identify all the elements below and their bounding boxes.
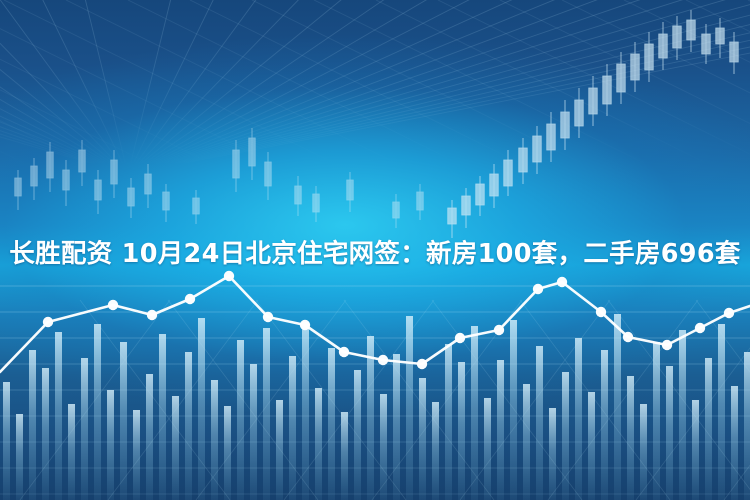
headline-banner: 长胜配资 10月24日北京住宅网签：新房100套，二手房696套 bbox=[0, 228, 750, 274]
page-title: 长胜配资 10月24日北京住宅网签：新房100套，二手房696套 bbox=[9, 233, 740, 270]
banner-image: 长胜配资 10月24日北京住宅网签：新房100套，二手房696套 bbox=[0, 0, 750, 500]
